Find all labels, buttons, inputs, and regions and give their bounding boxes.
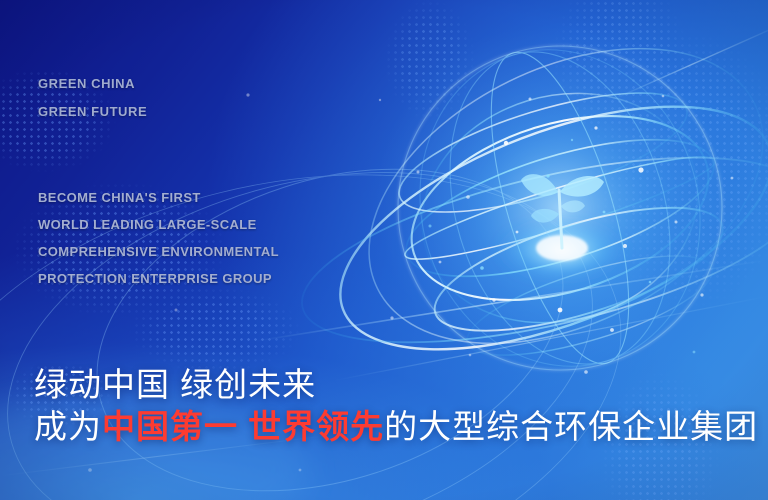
chinese-headline-line-1: 绿动中国 绿创未来 <box>34 365 758 405</box>
mission-line-4: PROTECTION ENTERPRISE GROUP <box>38 265 279 292</box>
mission-line-1: BECOME CHINA'S FIRST <box>38 184 279 211</box>
headline-highlight: 中国第一 世界领先 <box>102 408 384 445</box>
hero-banner: GREEN CHINA GREEN FUTURE BECOME CHINA'S … <box>0 0 768 500</box>
english-tagline: GREEN CHINA GREEN FUTURE <box>38 70 147 126</box>
chinese-headline-line-2: 成为中国第一 世界领先的大型综合环保企业集团 <box>34 407 758 447</box>
tagline-line-1: GREEN CHINA <box>38 70 147 98</box>
mission-line-3: COMPREHENSIVE ENVIRONMENTAL <box>38 238 279 265</box>
headline-prefix: 成为 <box>34 408 102 445</box>
sprout-icon <box>521 174 604 248</box>
mission-line-2: WORLD LEADING LARGE-SCALE <box>38 211 279 238</box>
english-mission-statement: BECOME CHINA'S FIRST WORLD LEADING LARGE… <box>38 184 279 292</box>
headline-suffix: 的大型综合环保企业集团 <box>384 408 758 445</box>
tagline-line-2: GREEN FUTURE <box>38 98 147 126</box>
chinese-headline: 绿动中国 绿创未来 成为中国第一 世界领先的大型综合环保企业集团 <box>34 365 758 447</box>
